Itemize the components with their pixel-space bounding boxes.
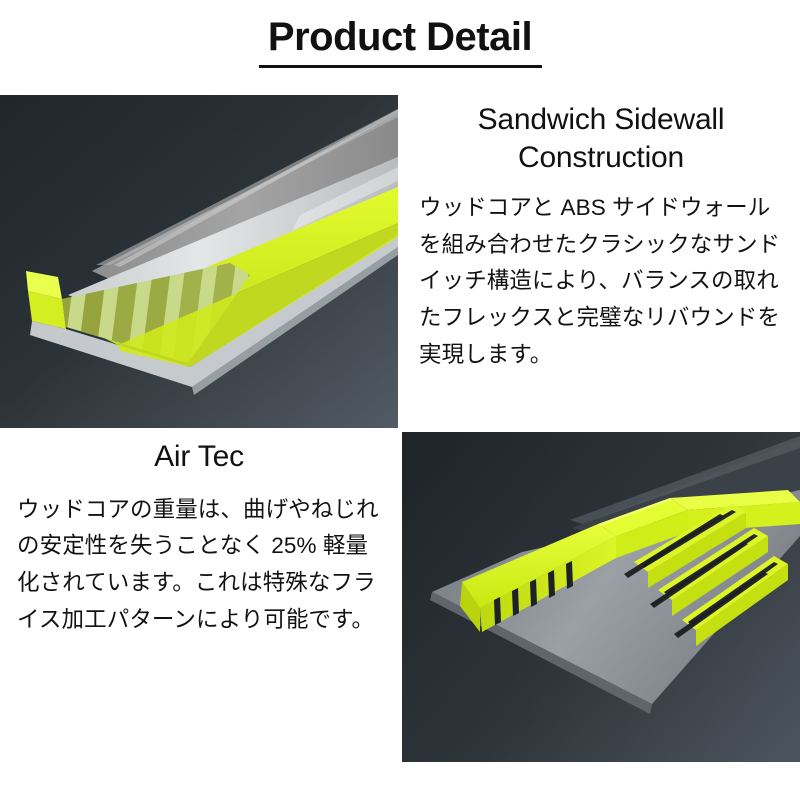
airtec-body-text: ウッドコアの重量は、曲げやねじれの安定性を失うことなく 25% 軽量化されていま… [4, 492, 394, 639]
airtec-core-image [402, 432, 800, 762]
sandwich-construction-image [0, 95, 398, 428]
sandwich-text-panel: Sandwich Sidewall Construction ウッドコアと AB… [402, 95, 800, 428]
page-title: Product Detail [268, 16, 532, 58]
airtec-heading: Air Tec [4, 438, 394, 476]
sandwich-heading: Sandwich Sidewall Construction [406, 101, 796, 176]
airtec-text-panel: Air Tec ウッドコアの重量は、曲げやねじれの安定性を失うことなく 25% … [0, 432, 398, 762]
snowboard-cross-section-illustration [0, 95, 398, 428]
page-header: Product Detail [0, 0, 800, 95]
product-detail-page: Product Detail [0, 0, 800, 800]
sandwich-body-text: ウッドコアと ABS サイドウォールを組み合わせたクラシックなサンドイッチ構造に… [406, 190, 796, 373]
title-underline-rule [259, 65, 542, 68]
milled-core-illustration [402, 432, 800, 762]
